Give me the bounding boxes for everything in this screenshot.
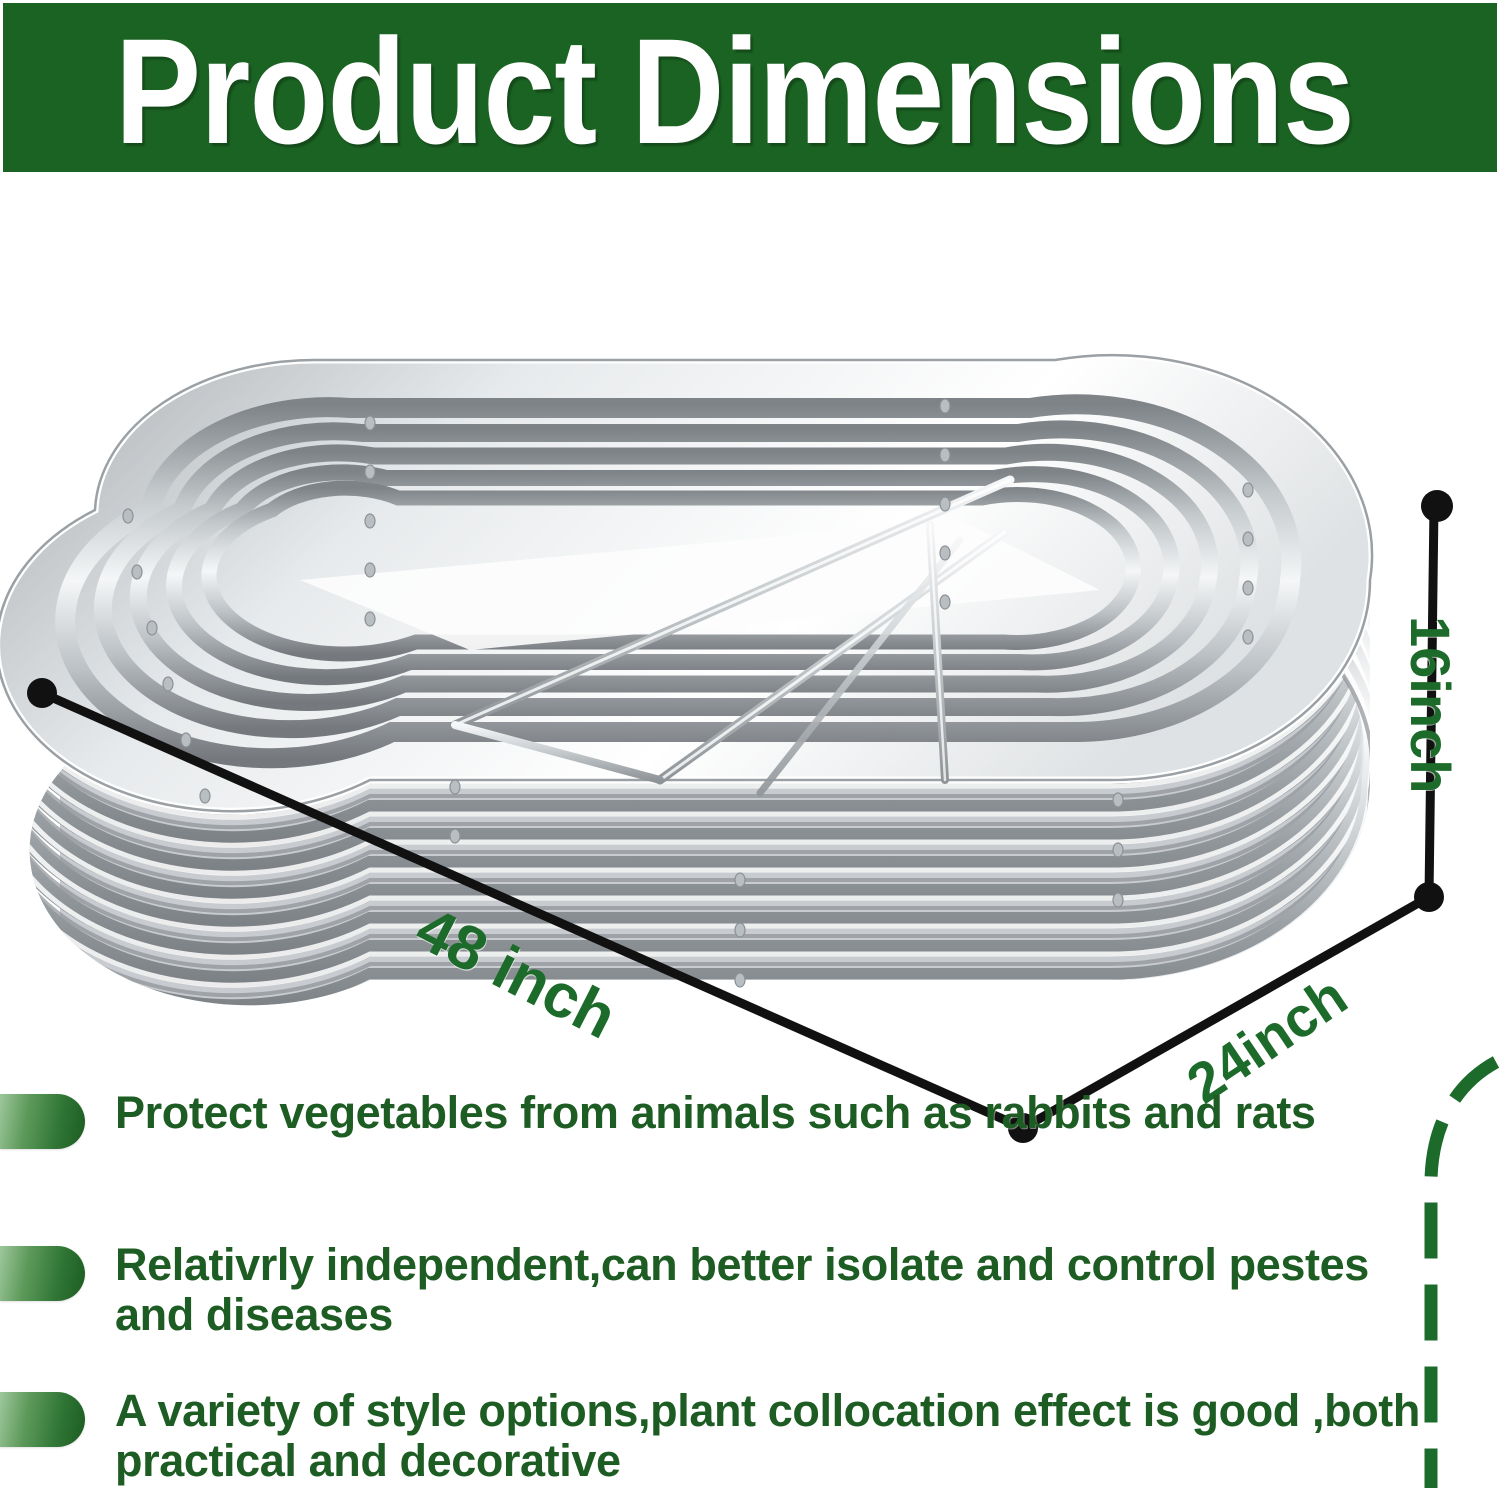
bed-inner-cavity xyxy=(0,355,1372,811)
bullet-pill-icon xyxy=(0,1094,85,1149)
feature-text: A variety of style options,plant colloca… xyxy=(115,1386,1420,1486)
feature-item: Relativrly independent,can better isolat… xyxy=(0,1240,1420,1340)
header-banner: Product Dimensions xyxy=(3,3,1497,172)
bullet-pill-icon xyxy=(0,1392,85,1447)
feature-item: A variety of style options,plant colloca… xyxy=(0,1386,1420,1486)
product-illustration xyxy=(0,180,1420,1140)
bullet-pill-icon xyxy=(0,1246,85,1301)
feature-item: Protect vegetables from animals such as … xyxy=(0,1088,1420,1149)
page-title: Product Dimensions xyxy=(115,11,1354,171)
feature-text: Relativrly independent,can better isolat… xyxy=(115,1240,1420,1340)
height-dimension-label: 16inch xyxy=(1398,616,1463,793)
feature-list: Protect vegetables from animals such as … xyxy=(0,1070,1500,1488)
feature-text: Protect vegetables from animals such as … xyxy=(115,1088,1316,1138)
